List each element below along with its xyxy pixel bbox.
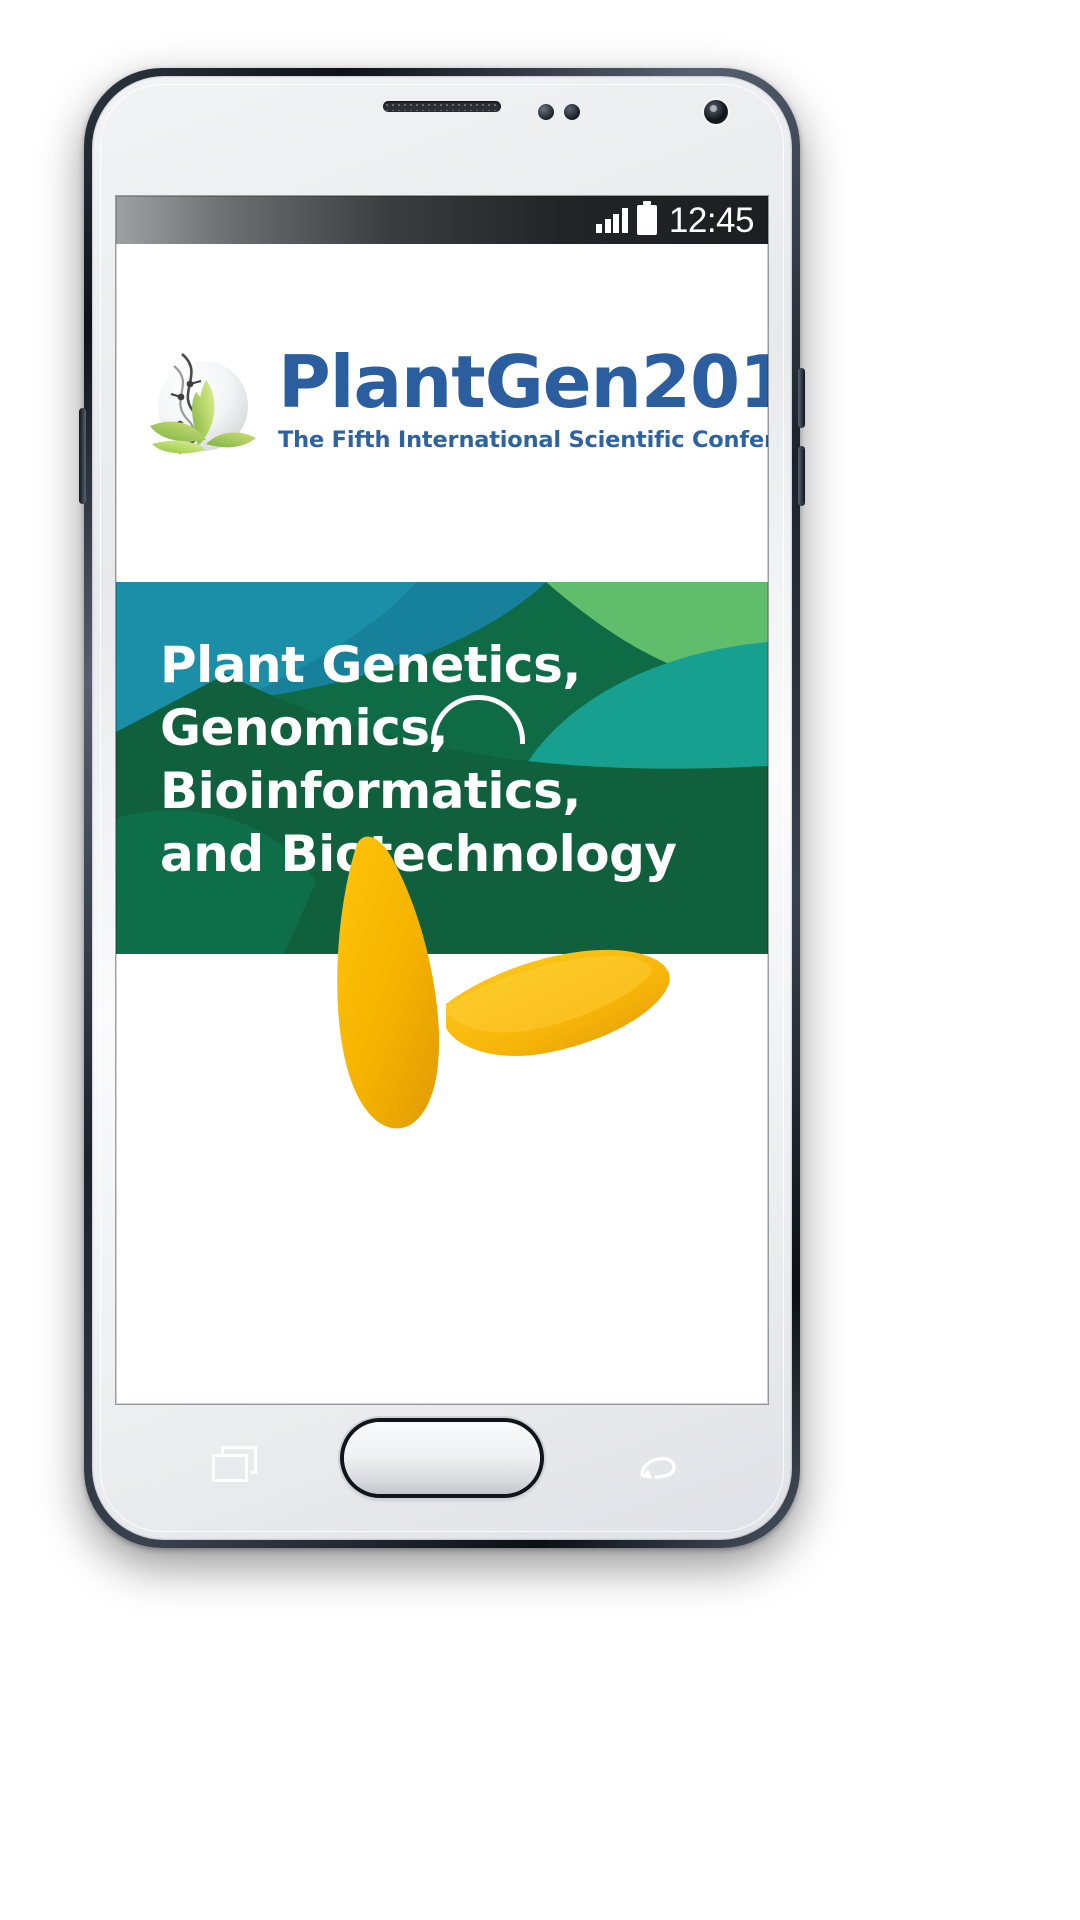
phone-device: 12:45 [84,68,800,1548]
system-navigation-bar [116,1404,768,1516]
home-button[interactable] [344,1422,540,1494]
front-camera-icon [704,100,728,124]
battery-full-icon [637,205,657,235]
status-bar-clock: 12:45 [669,203,754,238]
light-sensor-icon [564,104,580,120]
volume-up-button[interactable] [798,368,805,428]
recent-apps-icon[interactable] [212,1445,260,1487]
screenshot-stage: 12:45 [0,0,1080,1920]
content-gap [116,954,768,1146]
page-content: PlantGen2019 The Fifth International Sci… [116,244,768,1404]
power-button[interactable] [79,408,86,504]
signal-bars-icon [596,207,628,233]
volume-down-button[interactable] [798,446,805,506]
brand-text: PlantGen2019 The Fifth International Sci… [278,346,768,452]
phone-screen: 12:45 [116,196,768,1404]
plantgen-leaf-dna-emblem-icon [144,340,262,458]
page-title: PlantGen2019 [278,346,768,418]
hero-title: Plant Genetics, Genomics, Bioinformatics… [160,634,740,886]
brand-header: PlantGen2019 The Fifth International Sci… [116,244,768,582]
speaker-grille-icon [383,101,501,112]
back-arrow-icon[interactable] [634,1445,682,1487]
hero-banner: Plant Genetics, Genomics, Bioinformatics… [116,582,768,954]
page-subtitle: The Fifth International Scientific Confe… [278,428,768,452]
status-bar: 12:45 [116,196,768,244]
proximity-sensor-icon [538,104,554,120]
